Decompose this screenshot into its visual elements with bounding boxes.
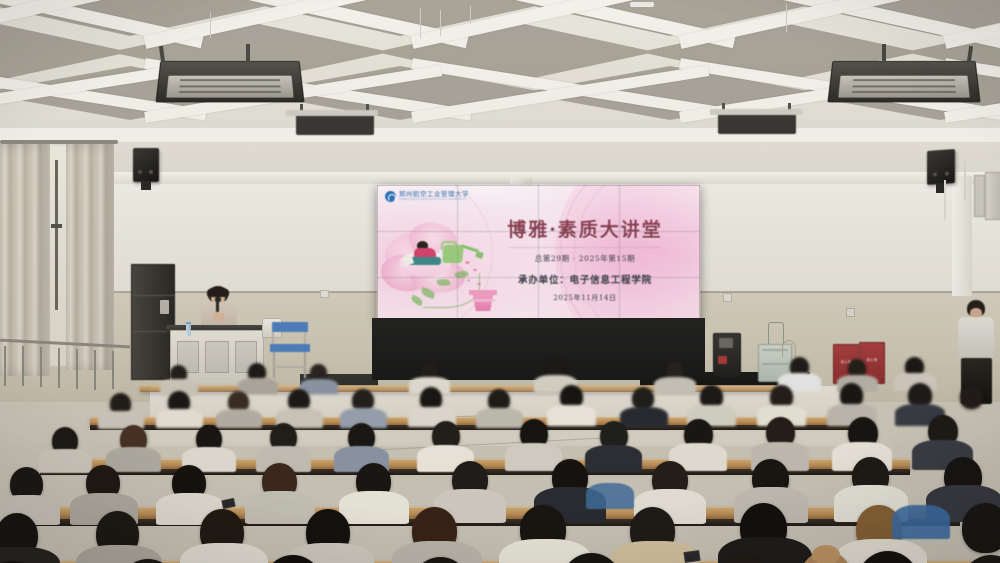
electrical-panel-right-2 <box>974 175 985 217</box>
projector-left <box>296 113 374 135</box>
slide-host-line: 承办单位：电子信息工程学院 <box>485 272 685 286</box>
audience-seating <box>0 355 1000 563</box>
cabinet-phone <box>160 300 169 314</box>
logo-chinese-text: 郑州航空工业管理大学 <box>399 191 469 198</box>
led-video-wall[interactable]: ❤ ❤ ❤ ❤ 郑州航空工业管理大学 ZHENGZHOU AERONAUTICA… <box>377 185 700 321</box>
curtain-right-panel[interactable] <box>66 144 114 370</box>
tile-seam-v2 <box>538 185 539 321</box>
university-emblem-icon <box>385 191 396 202</box>
tile-seam-h2 <box>377 277 700 278</box>
wall-switch-right <box>723 293 732 302</box>
wall-switch-right-2 <box>846 308 855 317</box>
wall-outlet <box>320 290 329 298</box>
water-bottle-podium <box>186 324 191 336</box>
slide-rule-top <box>509 247 661 248</box>
presentation-slide: ❤ ❤ ❤ ❤ 郑州航空工业管理大学 ZHENGZHOU AERONAUTICA… <box>377 185 700 321</box>
slide-issue-line: 总第29期 · 2025年第15期 <box>485 253 685 264</box>
trolley-handle <box>768 322 784 345</box>
slide-date-line: 2025年11月14日 <box>485 293 685 303</box>
curtain-pull-rod[interactable] <box>55 160 58 310</box>
pillar-right <box>952 176 972 296</box>
ac-cassette-left <box>155 61 304 102</box>
wall-speaker-right <box>927 149 955 185</box>
tile-seam-h1 <box>377 231 700 232</box>
projector-right <box>718 112 796 134</box>
logo-english-text: ZHENGZHOU AERONAUTICAL UNIVERSITY <box>399 199 469 202</box>
tile-seam-v3 <box>619 185 620 321</box>
lecture-hall-photo: ❤ ❤ ❤ ❤ 郑州航空工业管理大学 ZHENGZHOU AERONAUTICA… <box>0 0 1000 563</box>
mobile-phone-2[interactable] <box>683 550 700 563</box>
curtain-pull-handle[interactable] <box>51 224 62 228</box>
slide-title: 博雅·素质大讲堂 <box>485 215 685 242</box>
tile-seam-v1 <box>457 185 458 321</box>
ac-cassette-right <box>827 61 980 102</box>
electrical-panel-right <box>985 172 1000 220</box>
wall-speaker-left <box>133 148 159 182</box>
